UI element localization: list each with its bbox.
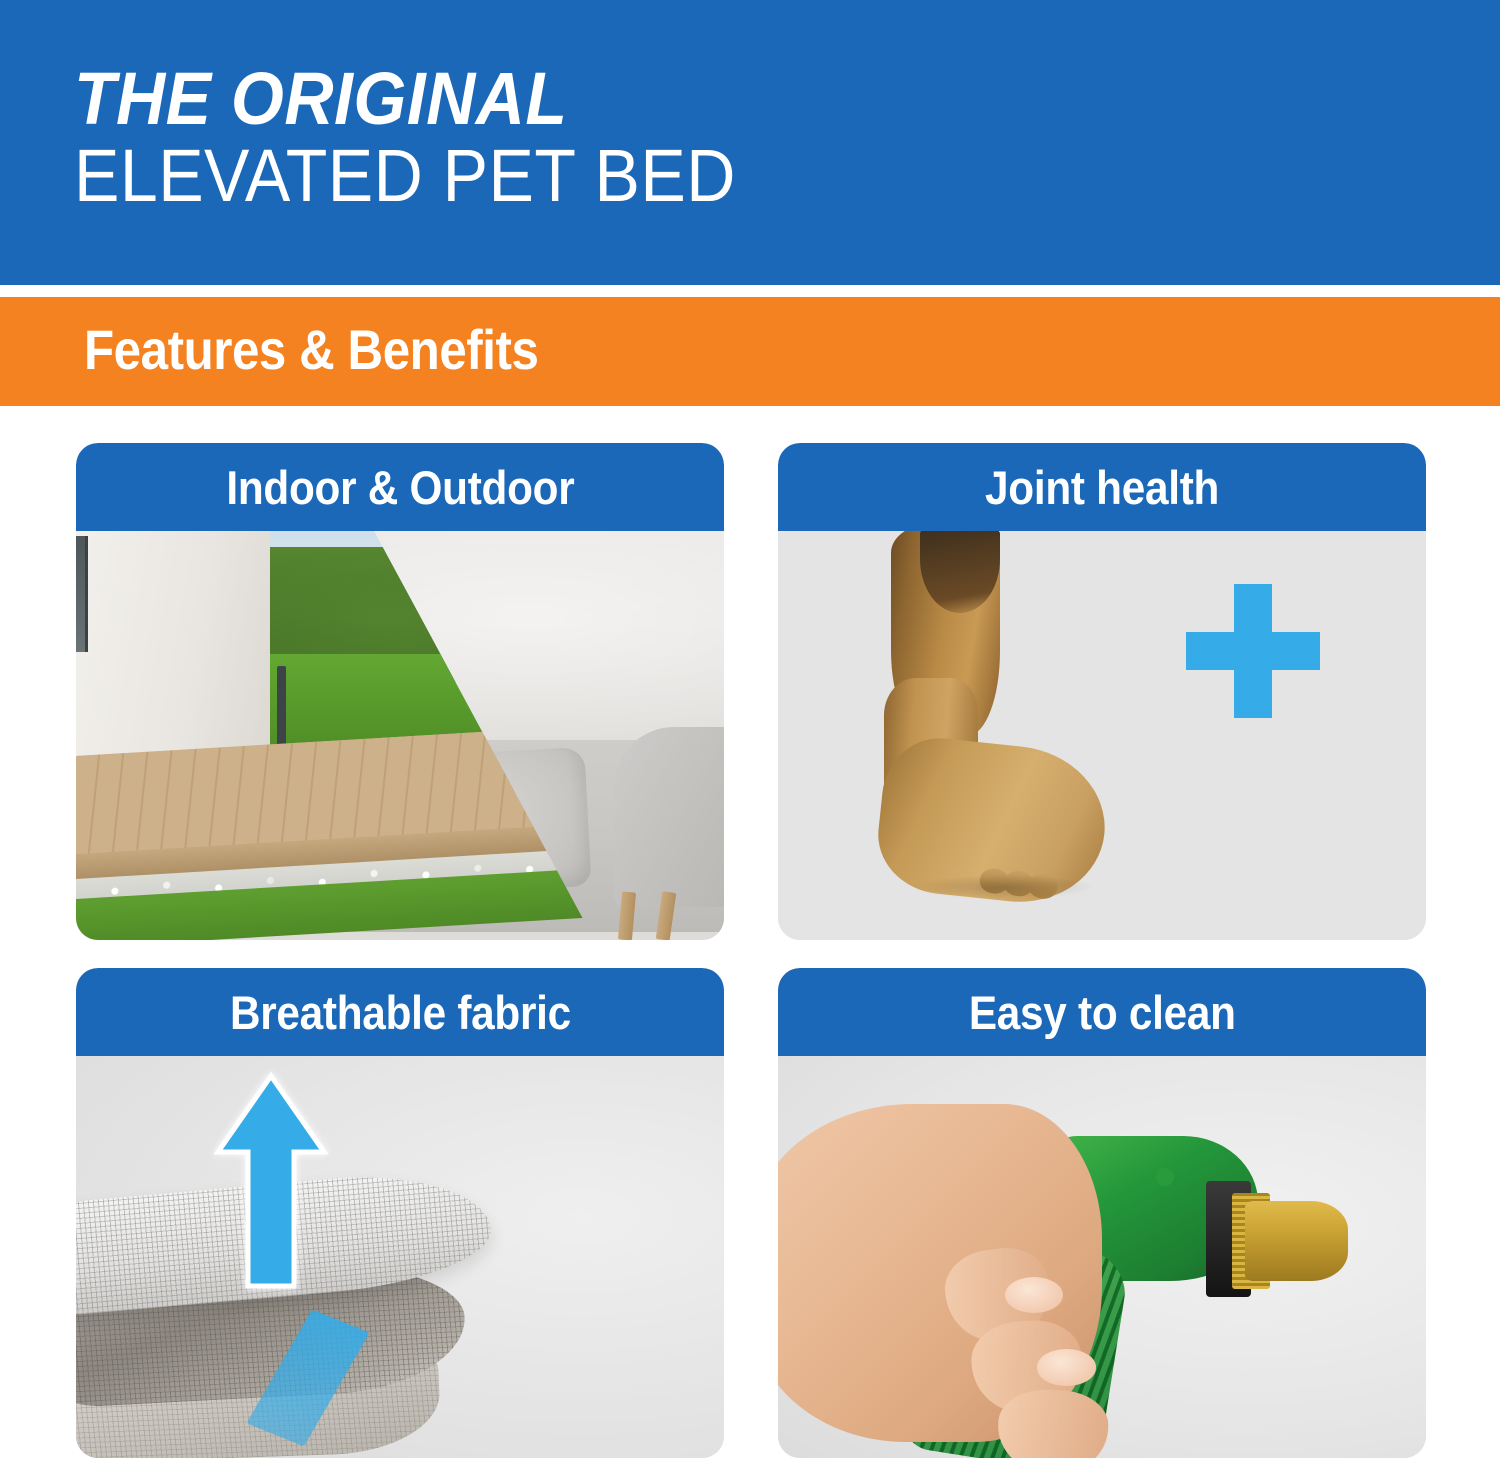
card-title: Joint health bbox=[985, 460, 1219, 515]
card-image-breathable-fabric bbox=[76, 1056, 724, 1458]
paw-shadow bbox=[913, 875, 1094, 900]
card-header: Breathable fabric bbox=[76, 968, 724, 1056]
fingernail bbox=[1037, 1349, 1095, 1385]
brass-spray-tip bbox=[1245, 1201, 1349, 1281]
dog-paw-illustration bbox=[778, 531, 1426, 940]
page-title: THE ORIGINAL ELEVATED PET BED bbox=[74, 62, 1274, 215]
feature-card-breathable-fabric: Breathable fabric bbox=[76, 968, 724, 1458]
glass-door bbox=[76, 536, 88, 652]
split-scene-illustration bbox=[76, 531, 724, 940]
plus-vertical-bar bbox=[1234, 584, 1272, 718]
dog-leg-group bbox=[804, 531, 1167, 940]
card-header: Joint health bbox=[778, 443, 1426, 531]
section-heading: Features & Benefits bbox=[84, 317, 538, 382]
card-title: Breathable fabric bbox=[230, 985, 571, 1040]
infographic-page: THE ORIGINAL ELEVATED PET BED Features &… bbox=[0, 0, 1500, 1465]
card-image-easy-to-clean bbox=[778, 1056, 1426, 1458]
card-image-indoor-outdoor bbox=[76, 531, 724, 940]
header-banner: THE ORIGINAL ELEVATED PET BED bbox=[0, 0, 1500, 285]
hose-nozzle-illustration bbox=[778, 1056, 1426, 1458]
feature-card-indoor-outdoor: Indoor & Outdoor bbox=[76, 443, 724, 940]
sofa-leg bbox=[618, 891, 636, 940]
house-exterior-wall bbox=[76, 531, 270, 772]
mesh-fabric-illustration bbox=[76, 1056, 724, 1458]
title-line-secondary: ELEVATED PET BED bbox=[74, 137, 1178, 215]
features-benefits-band: Features & Benefits bbox=[0, 297, 1500, 406]
nozzle-hang-hole bbox=[1156, 1168, 1174, 1186]
card-title: Indoor & Outdoor bbox=[226, 460, 574, 515]
card-header: Easy to clean bbox=[778, 968, 1426, 1056]
title-line-primary: THE ORIGINAL bbox=[74, 62, 1178, 135]
card-header: Indoor & Outdoor bbox=[76, 443, 724, 531]
card-title: Easy to clean bbox=[969, 985, 1236, 1040]
medical-plus-icon bbox=[1186, 584, 1320, 718]
feature-card-easy-to-clean: Easy to clean bbox=[778, 968, 1426, 1458]
feature-card-joint-health: Joint health bbox=[778, 443, 1426, 940]
garden-light-post bbox=[277, 666, 286, 756]
sofa-armrest bbox=[614, 727, 724, 907]
card-image-joint-health bbox=[778, 531, 1426, 940]
airflow-up-arrow-icon bbox=[212, 1072, 330, 1290]
